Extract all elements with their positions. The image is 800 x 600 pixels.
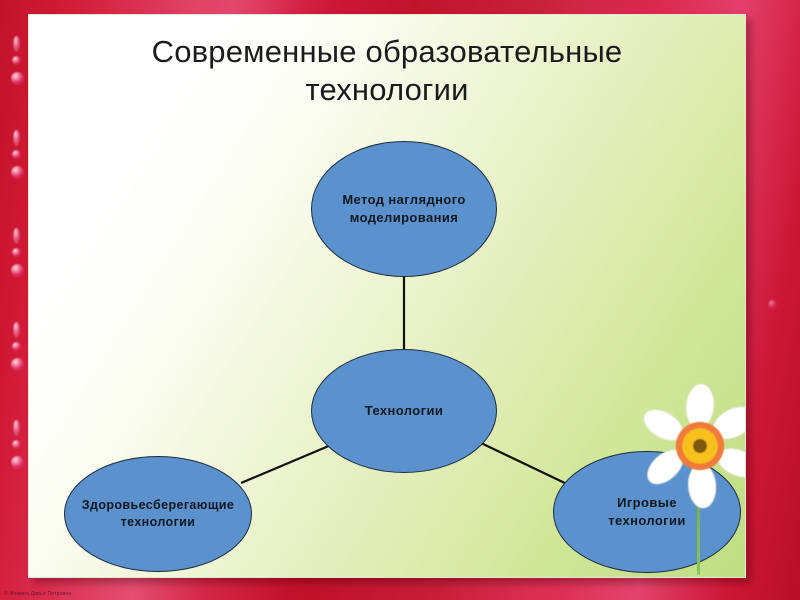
diagram-node-label-line1: Метод наглядного (342, 192, 465, 207)
bubble-ornament-icon (11, 166, 24, 179)
diagram-node-label: Метод наглядного моделирования (342, 191, 465, 226)
diagram-node-method-naglyadnogo-modelirovaniya[interactable]: Метод наглядного моделирования (311, 141, 497, 277)
diagram-node-label-line2: моделирования (350, 210, 459, 225)
diagram-node-label: Здоровьесберегающие технологии (82, 497, 235, 531)
bubble-ornament-icon (11, 456, 24, 469)
bubble-ornament-icon (12, 342, 21, 351)
slide-content-area: Современные образовательные технологии М… (28, 14, 746, 578)
diagram-node-label-line2: технологии (608, 513, 686, 528)
connector-central-health (241, 445, 331, 483)
bubble-ornament-icon (11, 264, 24, 277)
diagram-node-zdorovesberegayushchie-tehnologii[interactable]: Здоровьесберегающие технологии (64, 456, 252, 572)
bubble-ornament-icon (11, 358, 24, 371)
bubble-ornament-icon (12, 150, 21, 159)
narcissus-flower-icon (637, 383, 746, 509)
bubble-ornament-icon (12, 248, 21, 257)
diagram-node-label: Технологии (365, 402, 443, 420)
connector-central-game (481, 443, 569, 485)
bubble-ornament-icon (12, 440, 21, 449)
bubble-ornament-icon (768, 300, 777, 309)
mind-map-diagram: Метод наглядного моделирования Технологи… (29, 15, 745, 577)
bubble-ornament-icon (12, 56, 21, 65)
diagram-node-label-line1: Здоровьесберегающие (82, 498, 235, 512)
diagram-node-label-line2: технологии (121, 515, 196, 529)
diagram-node-tehnologii[interactable]: Технологии (311, 349, 497, 473)
bubble-ornament-icon (11, 72, 24, 85)
author-watermark: © Фомина Дарья Петровна (4, 591, 71, 597)
slide-stage: Современные образовательные технологии М… (0, 0, 800, 600)
